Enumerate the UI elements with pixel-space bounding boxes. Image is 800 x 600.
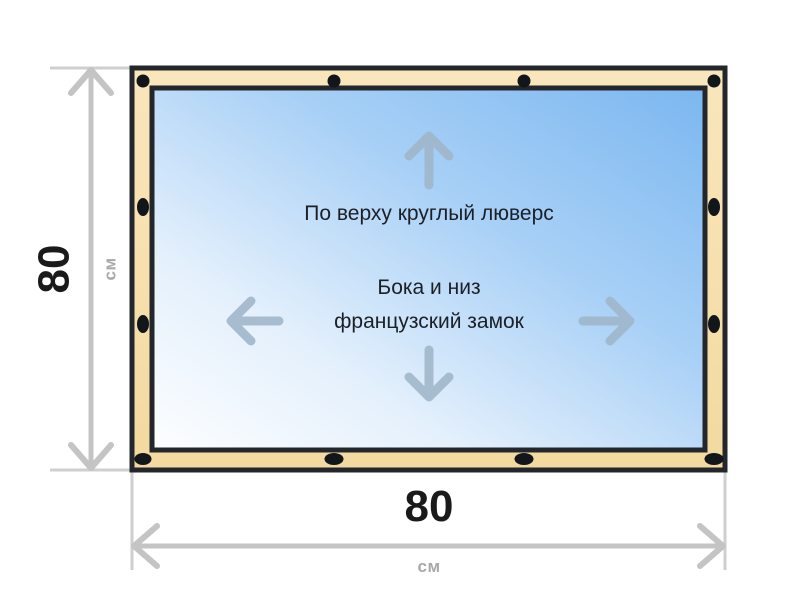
- width-unit-label: см: [417, 557, 440, 576]
- grommet-bottom-1: [135, 453, 152, 465]
- grommet-top-2: [328, 75, 341, 88]
- grommet-bottom-4: [705, 453, 724, 465]
- grommet-left-2: [137, 315, 149, 333]
- grommet-right-2: [708, 315, 720, 333]
- grommet-bottom-2: [325, 453, 344, 465]
- dimension-width: 80 см: [132, 470, 725, 576]
- dimension-height: 80 см: [30, 68, 133, 470]
- diagram-canvas: 80 см 80 см: [0, 0, 800, 600]
- annotation-bottom-label-line2: французский замок: [334, 310, 525, 333]
- annotation-top-label: По верху круглый люверс: [304, 202, 554, 225]
- grommet-top-1: [137, 75, 150, 88]
- grommet-top-4: [708, 75, 721, 88]
- grommet-bottom-3: [515, 453, 534, 465]
- annotation-bottom-label-line1: Бока и низ: [377, 276, 480, 299]
- grommet-left-1: [137, 198, 149, 216]
- grommet-top-3: [518, 75, 531, 88]
- grommet-right-1: [708, 198, 720, 216]
- height-value-label: 80: [30, 245, 79, 294]
- width-value-label: 80: [405, 482, 454, 531]
- diagram-svg: 80 см 80 см: [0, 0, 800, 600]
- height-unit-label: см: [101, 257, 120, 280]
